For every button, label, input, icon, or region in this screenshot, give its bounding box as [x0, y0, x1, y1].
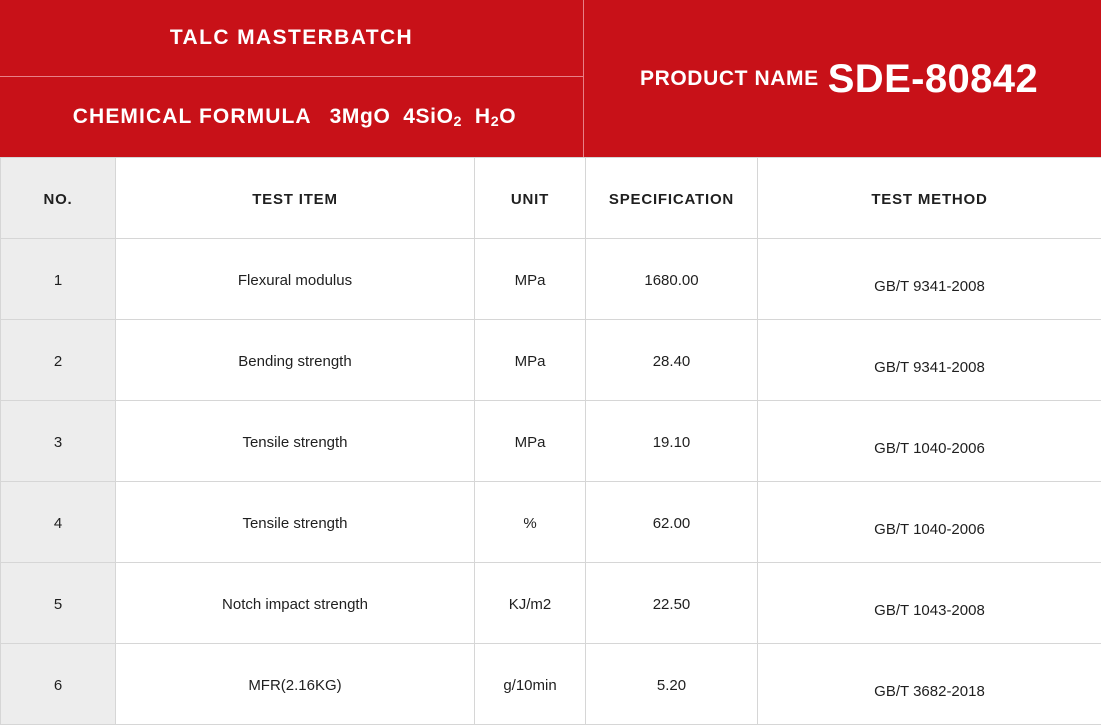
- column-header-specification-label: SPECIFICATION: [586, 189, 757, 208]
- cell-test-item: Bending strength: [116, 320, 475, 401]
- cell-specification: 62.00: [586, 482, 758, 563]
- cell-unit-value: MPa: [475, 270, 585, 289]
- header-right-panel: PRODUCT NAME SDE-80842: [584, 0, 1101, 157]
- column-header-test-method-label: TEST METHOD: [758, 189, 1101, 208]
- cell-no: 5: [1, 563, 116, 644]
- column-header-test-method: TEST METHOD: [758, 158, 1101, 239]
- table-row: 5 Notch impact strength KJ/m2 22.50 GB/T…: [1, 563, 1101, 644]
- cell-unit-value: g/10min: [475, 675, 585, 694]
- cell-unit: g/10min: [475, 644, 586, 725]
- cell-test-item-value: Tensile strength: [116, 432, 474, 451]
- cell-test-method: GB/T 1040-2006: [758, 482, 1101, 563]
- cell-specification-value: 22.50: [586, 594, 757, 613]
- cell-test-method-value: GB/T 3682-2018: [758, 669, 1101, 700]
- cell-unit: MPa: [475, 239, 586, 320]
- cell-specification: 5.20: [586, 644, 758, 725]
- cell-unit: KJ/m2: [475, 563, 586, 644]
- chemical-formula-band: CHEMICAL FORMULA 3MgO 4SiO2 H2O: [0, 77, 583, 157]
- cell-test-item-value: Tensile strength: [116, 513, 474, 532]
- cell-unit-value: MPa: [475, 351, 585, 370]
- cell-test-method: GB/T 1040-2006: [758, 401, 1101, 482]
- cell-test-method: GB/T 9341-2008: [758, 239, 1101, 320]
- cell-no-value: 3: [1, 432, 115, 451]
- cell-specification-value: 5.20: [586, 675, 757, 694]
- red-header-banner: TALC MASTERBATCH CHEMICAL FORMULA 3MgO 4…: [0, 0, 1101, 157]
- cell-test-method: GB/T 1043-2008: [758, 563, 1101, 644]
- cell-specification-value: 19.10: [586, 432, 757, 451]
- column-header-no: NO.: [1, 158, 116, 239]
- cell-test-item-value: Bending strength: [116, 351, 474, 370]
- column-header-unit: UNIT: [475, 158, 586, 239]
- table-row: 1 Flexural modulus MPa 1680.00 GB/T 9341…: [1, 239, 1101, 320]
- chemical-formula-value: 3MgO 4SiO2 H2O: [330, 105, 517, 129]
- cell-test-method-value: GB/T 9341-2008: [758, 264, 1101, 295]
- cell-unit-value: KJ/m2: [475, 594, 585, 613]
- cell-test-method: GB/T 9341-2008: [758, 320, 1101, 401]
- cell-test-item: Notch impact strength: [116, 563, 475, 644]
- cell-no: 2: [1, 320, 116, 401]
- cell-no-value: 4: [1, 513, 115, 532]
- spec-sheet: TALC MASTERBATCH CHEMICAL FORMULA 3MgO 4…: [0, 0, 1101, 719]
- cell-unit: MPa: [475, 401, 586, 482]
- cell-specification-value: 1680.00: [586, 270, 757, 289]
- cell-specification: 1680.00: [586, 239, 758, 320]
- column-header-no-label: NO.: [1, 189, 115, 208]
- table-row: 3 Tensile strength MPa 19.10 GB/T 1040-2…: [1, 401, 1101, 482]
- cell-test-item-value: MFR(2.16KG): [116, 675, 474, 694]
- cell-test-item: Tensile strength: [116, 482, 475, 563]
- cell-specification-value: 28.40: [586, 351, 757, 370]
- table-row: 4 Tensile strength % 62.00 GB/T 1040-200…: [1, 482, 1101, 563]
- cell-unit: MPa: [475, 320, 586, 401]
- table-row: 6 MFR(2.16KG) g/10min 5.20 GB/T 3682-201…: [1, 644, 1101, 725]
- cell-test-item: Flexural modulus: [116, 239, 475, 320]
- cell-test-method-value: GB/T 1040-2006: [758, 507, 1101, 538]
- cell-no: 6: [1, 644, 116, 725]
- product-name-label: PRODUCT NAME: [640, 68, 819, 89]
- cell-test-item: Tensile strength: [116, 401, 475, 482]
- cell-test-item-value: Flexural modulus: [116, 270, 474, 289]
- column-header-unit-label: UNIT: [475, 189, 585, 208]
- cell-specification: 19.10: [586, 401, 758, 482]
- cell-unit: %: [475, 482, 586, 563]
- cell-unit-value: %: [475, 513, 585, 532]
- cell-no-value: 2: [1, 351, 115, 370]
- table-body: NO. TEST ITEM UNIT SPECIFICATION TEST ME…: [1, 158, 1101, 725]
- column-header-specification: SPECIFICATION: [586, 158, 758, 239]
- product-title-band: TALC MASTERBATCH: [0, 0, 583, 77]
- column-header-test-item-label: TEST ITEM: [116, 189, 474, 208]
- cell-specification-value: 62.00: [586, 513, 757, 532]
- cell-no-value: 5: [1, 594, 115, 613]
- product-title: TALC MASTERBATCH: [170, 26, 413, 50]
- cell-no: 1: [1, 239, 116, 320]
- cell-no: 4: [1, 482, 116, 563]
- cell-test-item: MFR(2.16KG): [116, 644, 475, 725]
- cell-no: 3: [1, 401, 116, 482]
- cell-test-method-value: GB/T 1043-2008: [758, 588, 1101, 619]
- header-left-panel: TALC MASTERBATCH CHEMICAL FORMULA 3MgO 4…: [0, 0, 584, 157]
- product-name-value: SDE-80842: [828, 59, 1038, 99]
- cell-test-item-value: Notch impact strength: [116, 594, 474, 613]
- cell-no-value: 1: [1, 270, 115, 289]
- cell-test-method-value: GB/T 1040-2006: [758, 426, 1101, 457]
- column-header-test-item: TEST ITEM: [116, 158, 475, 239]
- cell-specification: 28.40: [586, 320, 758, 401]
- chemical-formula-label: CHEMICAL FORMULA: [73, 105, 312, 129]
- specification-table: NO. TEST ITEM UNIT SPECIFICATION TEST ME…: [0, 157, 1101, 725]
- cell-test-method: GB/T 3682-2018: [758, 644, 1101, 725]
- cell-unit-value: MPa: [475, 432, 585, 451]
- cell-specification: 22.50: [586, 563, 758, 644]
- table-header-row: NO. TEST ITEM UNIT SPECIFICATION TEST ME…: [1, 158, 1101, 239]
- table-row: 2 Bending strength MPa 28.40 GB/T 9341-2…: [1, 320, 1101, 401]
- cell-test-method-value: GB/T 9341-2008: [758, 345, 1101, 376]
- cell-no-value: 6: [1, 675, 115, 694]
